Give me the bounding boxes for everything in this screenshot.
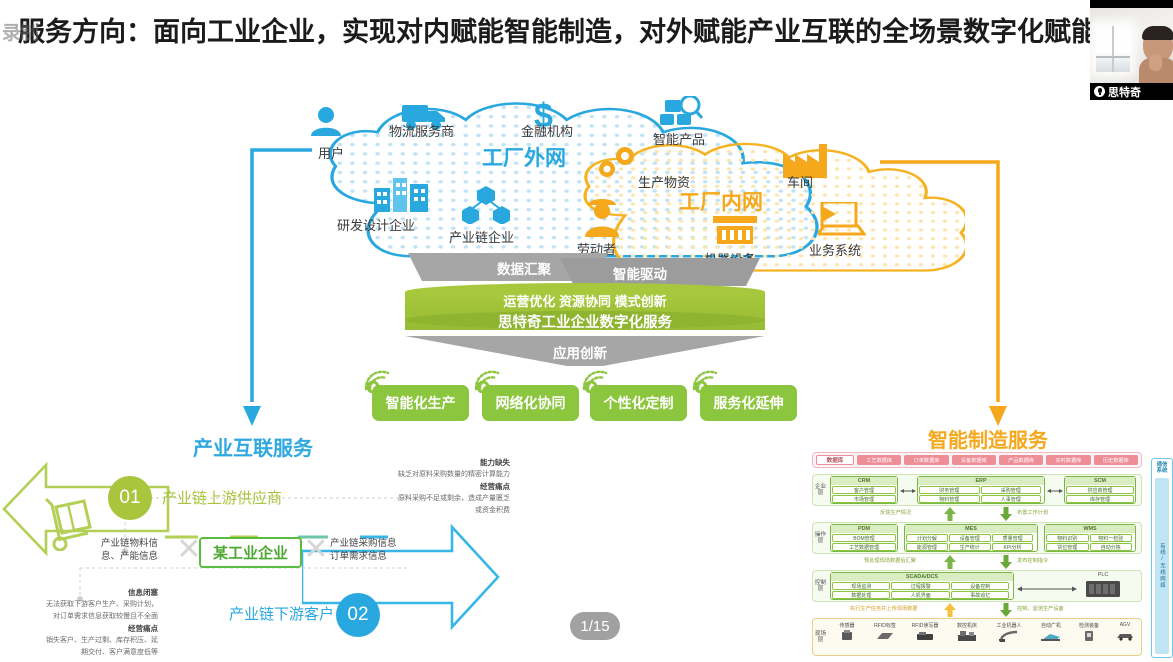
capability-pill-1[interactable]: 智能化生产 xyxy=(372,385,469,421)
erp-cell[interactable]: 人事管理 xyxy=(981,495,1042,503)
pain-bottom-title-1-text: 信息闭塞 xyxy=(128,588,158,597)
pain-bottom-title-2: 经营痛点 xyxy=(0,623,158,635)
rfid-reader-icon xyxy=(915,630,935,642)
crm-erp-link xyxy=(900,488,916,494)
right-section-heading: 智能制造服务 xyxy=(928,424,1048,453)
device-inspection[interactable]: 检测装备 xyxy=(1072,622,1106,644)
worker-icon xyxy=(583,193,621,237)
erp-cell[interactable]: 物料管理 xyxy=(919,495,980,503)
mes-group: MES 计划分解 设备管理 质量管理 能源管理 生产统计 KPI分析 xyxy=(904,524,1038,552)
scada-cell[interactable]: 现场监测 xyxy=(832,582,890,590)
database-item[interactable]: 产品数据库 xyxy=(999,455,1043,465)
device-label: 自动广机 xyxy=(1034,622,1068,629)
scada-cell[interactable]: 数据处理 xyxy=(832,591,890,599)
upstream-label: 产业链上游供应商 xyxy=(162,487,282,508)
device-label: 检测装备 xyxy=(1072,622,1106,629)
flow-label-down-2: 发布控制指令 xyxy=(1017,557,1048,564)
database-item[interactable]: 订单数据库 xyxy=(904,455,948,465)
node-label-finance: 金融机构 xyxy=(521,121,573,140)
device-robot[interactable]: 工业机器人 xyxy=(992,622,1026,644)
operation-layer-label: 操作层 xyxy=(814,524,827,552)
flow-label-up-3: 执行生产任务并上传现场数据 xyxy=(850,605,917,612)
x-blocker-icon: ✕ xyxy=(176,537,202,563)
flow-arrow-down-3 xyxy=(1000,603,1012,617)
erp-cell[interactable]: 采购管理 xyxy=(981,486,1042,494)
device-label: RFID标签 xyxy=(868,622,902,629)
platform-line-1: 运营优化 资源协同 模式创新 xyxy=(405,291,765,310)
pain-bottom-body-2: 对订单需求信息获取较慢且不全面 xyxy=(0,611,158,622)
badge-01: 01 xyxy=(108,476,152,520)
pain-top-body-3: 或资金积费 xyxy=(365,505,510,516)
node-label-logistics: 物流服务商 xyxy=(389,121,454,140)
participant-name-bar: 思特奇 xyxy=(1090,83,1173,100)
flow-label-up-1: 反馈生产情况 xyxy=(880,509,911,516)
database-lead-label: 数据库 xyxy=(816,455,854,465)
pain-top-title-1: 能力缺失 xyxy=(375,457,510,469)
scm-cell[interactable]: 库存管理 xyxy=(1066,495,1134,503)
scada-group: SCADA/DCS 现场监测 过程报警 设备控制 数据处理 人机界面 事故追忆 xyxy=(830,572,1014,600)
communication-side-panel: 通信系统 有线/无线网络 xyxy=(1151,458,1173,658)
flow-label-down-3: 控制、监测生产设备 xyxy=(1017,605,1064,612)
device-label: 工业机器人 xyxy=(992,622,1026,629)
node-label-smart-product: 智能产品 xyxy=(653,129,705,148)
pain-bottom-body-4: 期交付、客户满意度低等 xyxy=(0,647,158,658)
device-rfid-reader[interactable]: RFID读写器 xyxy=(908,622,942,644)
network-cubes-icon xyxy=(462,186,510,224)
digital-service-platform: 运营优化 资源协同 模式创新 思特奇工业企业数字化服务 xyxy=(405,283,765,339)
device-label: 数控机床 xyxy=(950,622,984,629)
robot-arm-icon xyxy=(999,630,1019,642)
node-label-chain-enterprise: 产业链企业 xyxy=(449,227,514,246)
flow-right-line-1: 产业链采购信息 xyxy=(330,535,397,549)
x-blocker-icon: ✕ xyxy=(303,537,329,563)
database-item[interactable]: 历史数据库 xyxy=(1094,455,1138,465)
page-indicator: 1/15 xyxy=(570,612,620,640)
flow-left-line-2: 息、产能信息 xyxy=(101,548,158,562)
participant-name: 思特奇 xyxy=(1108,84,1141,100)
smart-drive-label: 智能驱动 xyxy=(613,263,667,283)
wms-group: WMS 物料识别 物料一检验 货位管理 自动分拣 xyxy=(1044,524,1136,552)
wms-title: WMS xyxy=(1045,525,1135,533)
node-label-user: 用户 xyxy=(318,143,344,162)
app-innovation-label: 应用创新 xyxy=(553,342,607,362)
mes-cell[interactable]: 计划分解 xyxy=(906,534,948,542)
scada-cell[interactable]: 设备控制 xyxy=(951,582,1009,590)
pain-bottom-body-3: 销失客户、生产过剩、库存积压、延 xyxy=(0,635,158,646)
capability-pill-2[interactable]: 网络化协同 xyxy=(482,385,579,421)
sensor-icon xyxy=(837,630,857,642)
scada-title: SCADA/DCS xyxy=(831,573,1013,581)
laptop-icon xyxy=(818,202,866,236)
control-layer-label: 控制层 xyxy=(814,572,827,600)
outer-cloud-label: 工厂外网 xyxy=(482,142,566,172)
pdm-cell[interactable]: BOM管理 xyxy=(832,534,896,542)
center-enterprise-box: 某工业企业 xyxy=(199,537,302,568)
buildings-icon xyxy=(374,170,430,212)
node-label-materials: 生产物资 xyxy=(638,172,690,191)
crm-cell[interactable]: 客户管理 xyxy=(832,486,896,494)
flow-arrow-up-1 xyxy=(944,507,956,521)
flow-arrow-down-2 xyxy=(1000,555,1012,569)
platform-line-2: 思特奇工业企业数字化服务 xyxy=(405,311,765,332)
machine-icon xyxy=(713,216,757,244)
pain-top-title-2: 经营痛点 xyxy=(375,481,510,493)
scm-cell[interactable]: 供应商管理 xyxy=(1066,486,1134,494)
wms-cell[interactable]: 自动分拣 xyxy=(1090,543,1133,551)
mes-cell[interactable]: KPI分析 xyxy=(992,543,1034,551)
pain-top-title-1-text: 能力缺失 xyxy=(480,458,510,467)
capability-label-1: 智能化生产 xyxy=(386,393,456,413)
recording-watermark: 录制 xyxy=(2,18,38,45)
badge-02: 02 xyxy=(336,593,380,637)
database-band: 数据库 工艺数据库 订单数据库 设备数据库 产品数据库 实时数据库 历史数据库 xyxy=(812,452,1142,468)
rfid-tag-icon xyxy=(875,630,895,642)
smart-device-icon xyxy=(660,96,704,130)
slide-stage: 录制 服务方向：面向工业企业，实现对内赋能智能制造，对外赋能产业互联的全场景数字… xyxy=(0,0,1173,662)
pdm-group: PDM BOM管理 工艺数据管理 xyxy=(830,524,898,552)
node-label-rnd: 研发设计企业 xyxy=(337,215,415,234)
scm-group: SCM 供应商管理 库存管理 xyxy=(1064,476,1136,504)
communication-title: 通信系统 xyxy=(1154,462,1170,474)
capability-label-4: 服务化延伸 xyxy=(714,393,784,413)
flow-arrow-down-1 xyxy=(1000,507,1012,521)
supply-chain-diagram: 01 02 产业链上游供应商 产业链下游客户 某工业企业 ✕ ✕ 产业链物料信 … xyxy=(0,455,510,662)
inner-cloud-label: 工厂内网 xyxy=(679,186,763,216)
device-agv[interactable]: AGV xyxy=(1108,622,1142,643)
enterprise-layer-label: 企业层 xyxy=(814,476,827,504)
crm-title: CRM xyxy=(831,477,897,485)
device-conveyor[interactable]: 自动广机 xyxy=(1034,622,1068,644)
downstream-label: 产业链下游客户 xyxy=(229,603,334,624)
conveyor-icon xyxy=(1041,630,1061,642)
scada-cell[interactable]: 过程报警 xyxy=(891,582,949,590)
pdm-title: PDM xyxy=(831,525,897,533)
erp-title: ERP xyxy=(918,477,1044,485)
device-label: RFID读写器 xyxy=(908,622,942,629)
wms-cell[interactable]: 货位管理 xyxy=(1046,543,1089,551)
microphone-icon[interactable] xyxy=(1094,86,1105,97)
flow-arrow-up-2 xyxy=(944,555,956,569)
device-label: AGV xyxy=(1108,622,1142,628)
database-item[interactable]: 设备数据库 xyxy=(952,455,996,465)
crm-cell[interactable]: 市场管理 xyxy=(832,495,896,503)
capability-pill-4[interactable]: 服务化延伸 xyxy=(700,385,797,421)
flow-right-line-2: 订单需求信息 xyxy=(330,548,387,562)
mes-cell[interactable]: 质量管理 xyxy=(992,534,1034,542)
inspection-icon xyxy=(1079,630,1099,642)
left-connector-arrow xyxy=(240,140,320,430)
wms-cell[interactable]: 物料一检验 xyxy=(1090,534,1133,542)
erp-scm-link xyxy=(1047,488,1063,494)
scada-cell[interactable]: 事故追忆 xyxy=(951,591,1009,599)
flow-arrow-up-3 xyxy=(944,603,956,617)
gears-icon xyxy=(595,145,639,181)
agv-icon xyxy=(1115,629,1135,641)
smart-manufacturing-architecture: 数据库 工艺数据库 订单数据库 设备数据库 产品数据库 实时数据库 历史数据库 … xyxy=(812,452,1173,662)
scm-title: SCM xyxy=(1065,477,1135,485)
capability-label-2: 网络化协同 xyxy=(496,393,566,413)
device-cnc[interactable]: 数控机床 xyxy=(950,622,984,644)
communication-body: 有线/无线网络 xyxy=(1155,478,1169,654)
node-label-business-system: 业务系统 xyxy=(809,240,861,259)
flow-label-down-1: 布置工作计划 xyxy=(1017,509,1048,516)
avatar xyxy=(1139,28,1173,82)
database-item[interactable]: 工艺数据库 xyxy=(857,455,901,465)
database-item[interactable]: 实时数据库 xyxy=(1046,455,1090,465)
scada-cell[interactable]: 人机界面 xyxy=(891,591,949,599)
device-label: 传感器 xyxy=(830,622,864,629)
pain-bottom-body-1: 无法获取下游客户生产、采购计划， xyxy=(0,599,158,610)
plc-icon xyxy=(1084,579,1124,599)
pdm-cell[interactable]: 工艺数据管理 xyxy=(832,543,896,551)
mes-title: MES xyxy=(905,525,1037,533)
mes-cell[interactable]: 生产统计 xyxy=(949,543,991,551)
plc-title: PLC xyxy=(1078,572,1128,578)
pain-top-body-1: 缺乏对原料采购数量的精密计算能力 xyxy=(365,469,510,480)
right-connector-arrow xyxy=(880,140,1020,430)
device-sensor[interactable]: 传感器 xyxy=(830,622,864,644)
data-aggregation-label: 数据汇聚 xyxy=(497,258,551,278)
erp-cell[interactable]: 财务管理 xyxy=(919,486,980,494)
mes-cell[interactable]: 设备管理 xyxy=(949,534,991,542)
pain-bottom-title-1: 信息闭塞 xyxy=(0,587,158,599)
cnc-machine-icon xyxy=(957,630,977,642)
video-background xyxy=(1090,8,1173,86)
pain-top-title-2-text: 经营痛点 xyxy=(480,482,510,491)
wms-cell[interactable]: 物料识别 xyxy=(1046,534,1089,542)
flow-label-up-2: 预处理现场数据后汇聚 xyxy=(864,557,916,564)
pain-bottom-title-2-text: 经营痛点 xyxy=(128,624,158,633)
user-icon xyxy=(309,106,343,136)
scada-plc-link xyxy=(1017,586,1077,592)
capability-label-3: 个性化定制 xyxy=(604,393,674,413)
page-title: 服务方向：面向工业企业，实现对内赋能智能制造，对外赋能产业互联的全场景数字化赋能 xyxy=(18,10,1108,49)
window-icon xyxy=(1096,26,1130,72)
erp-group: ERP 财务管理 采购管理 物料管理 人事管理 xyxy=(917,476,1045,504)
crm-group: CRM 客户管理 市场管理 xyxy=(830,476,898,504)
pain-top-body-2: 原料采购不足或剩余，造成产量匮乏 xyxy=(365,493,510,504)
field-layer-label: 现场层 xyxy=(814,620,827,654)
mes-cell[interactable]: 能源管理 xyxy=(906,543,948,551)
node-label-workshop: 车间 xyxy=(787,172,813,191)
capability-pill-3[interactable]: 个性化定制 xyxy=(590,385,687,421)
participant-video-tile[interactable]: 思特奇 xyxy=(1090,0,1173,100)
device-rfid-tag[interactable]: RFID标签 xyxy=(868,622,902,644)
flow-left-line-1: 产业链物料信 xyxy=(101,535,158,549)
